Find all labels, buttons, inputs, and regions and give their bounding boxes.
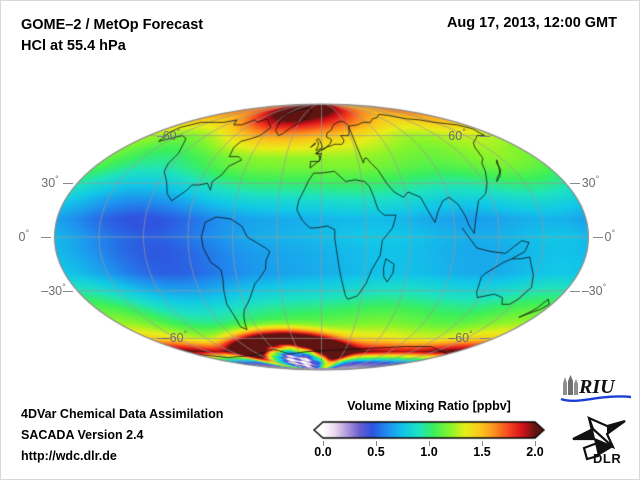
header-title-block: GOME–2 / MetOp Forecast HCl at 55.4 hPa — [21, 15, 401, 57]
colorbar-gradient — [313, 419, 545, 441]
global-map: 60°30°0°–30°–60°60°30°0°–30°–60° — [1, 79, 640, 379]
latitude-label-0-right: 0° — [605, 228, 616, 244]
latitude-tick — [480, 136, 490, 137]
dlr-wordmark: DLR — [593, 451, 621, 466]
latitude-label-0-left: 0° — [19, 228, 30, 244]
riu-swoosh-icon — [561, 396, 631, 400]
colorbar-tick-label: 0.0 — [314, 445, 331, 459]
footer-line-method: 4DVar Chemical Data Assimilation — [21, 404, 223, 425]
species-level-title: HCl at 55.4 hPa — [21, 36, 401, 57]
latitude-label-60-left: 60° — [163, 127, 181, 143]
colorbar-tick-label: 1.0 — [420, 445, 437, 459]
riu-logo: RIU — [557, 374, 635, 404]
riu-towers-icon — [563, 375, 578, 395]
latitude-label-minus30-right: –30° — [582, 282, 606, 298]
latitude-label-minus60-right: –60° — [448, 329, 472, 345]
latitude-label-minus60-left: –60° — [163, 329, 187, 345]
forecast-map-figure: GOME–2 / MetOp Forecast HCl at 55.4 hPa … — [0, 0, 640, 480]
colorbar-ticks: 0.00.51.01.52.0 — [313, 441, 545, 457]
latitude-label-30-left: 30° — [41, 174, 59, 190]
footer-line-url: http://wdc.dlr.de — [21, 446, 223, 467]
footer-line-version: SACADA Version 2.4 — [21, 425, 223, 446]
latitude-tick — [593, 237, 603, 238]
latitude-label-minus30-left: –30° — [41, 282, 65, 298]
latitude-tick — [570, 291, 580, 292]
colorbar-tick-label: 0.5 — [367, 445, 384, 459]
latitude-tick — [63, 183, 73, 184]
colorbar-canvas — [313, 419, 545, 441]
colorbar: Volume Mixing Ratio [ppbv] 0.00.51.01.52… — [313, 399, 545, 457]
latitude-tick — [480, 338, 490, 339]
colorbar-tick-label: 1.5 — [473, 445, 490, 459]
colorbar-title: Volume Mixing Ratio [ppbv] — [313, 399, 545, 413]
latitude-label-60-right: 60° — [448, 127, 466, 143]
colorbar-tick-label: 2.0 — [526, 445, 543, 459]
footer-credits: 4DVar Chemical Data Assimilation SACADA … — [21, 404, 223, 467]
latitude-tick — [41, 237, 51, 238]
riu-wordmark: RIU — [578, 376, 616, 398]
latitude-label-30-right: 30° — [582, 174, 600, 190]
map-data-canvas — [1, 79, 640, 379]
forecast-datetime: Aug 17, 2013, 12:00 GMT — [447, 15, 617, 31]
latitude-tick — [570, 183, 580, 184]
instrument-title: GOME–2 / MetOp Forecast — [21, 15, 401, 36]
